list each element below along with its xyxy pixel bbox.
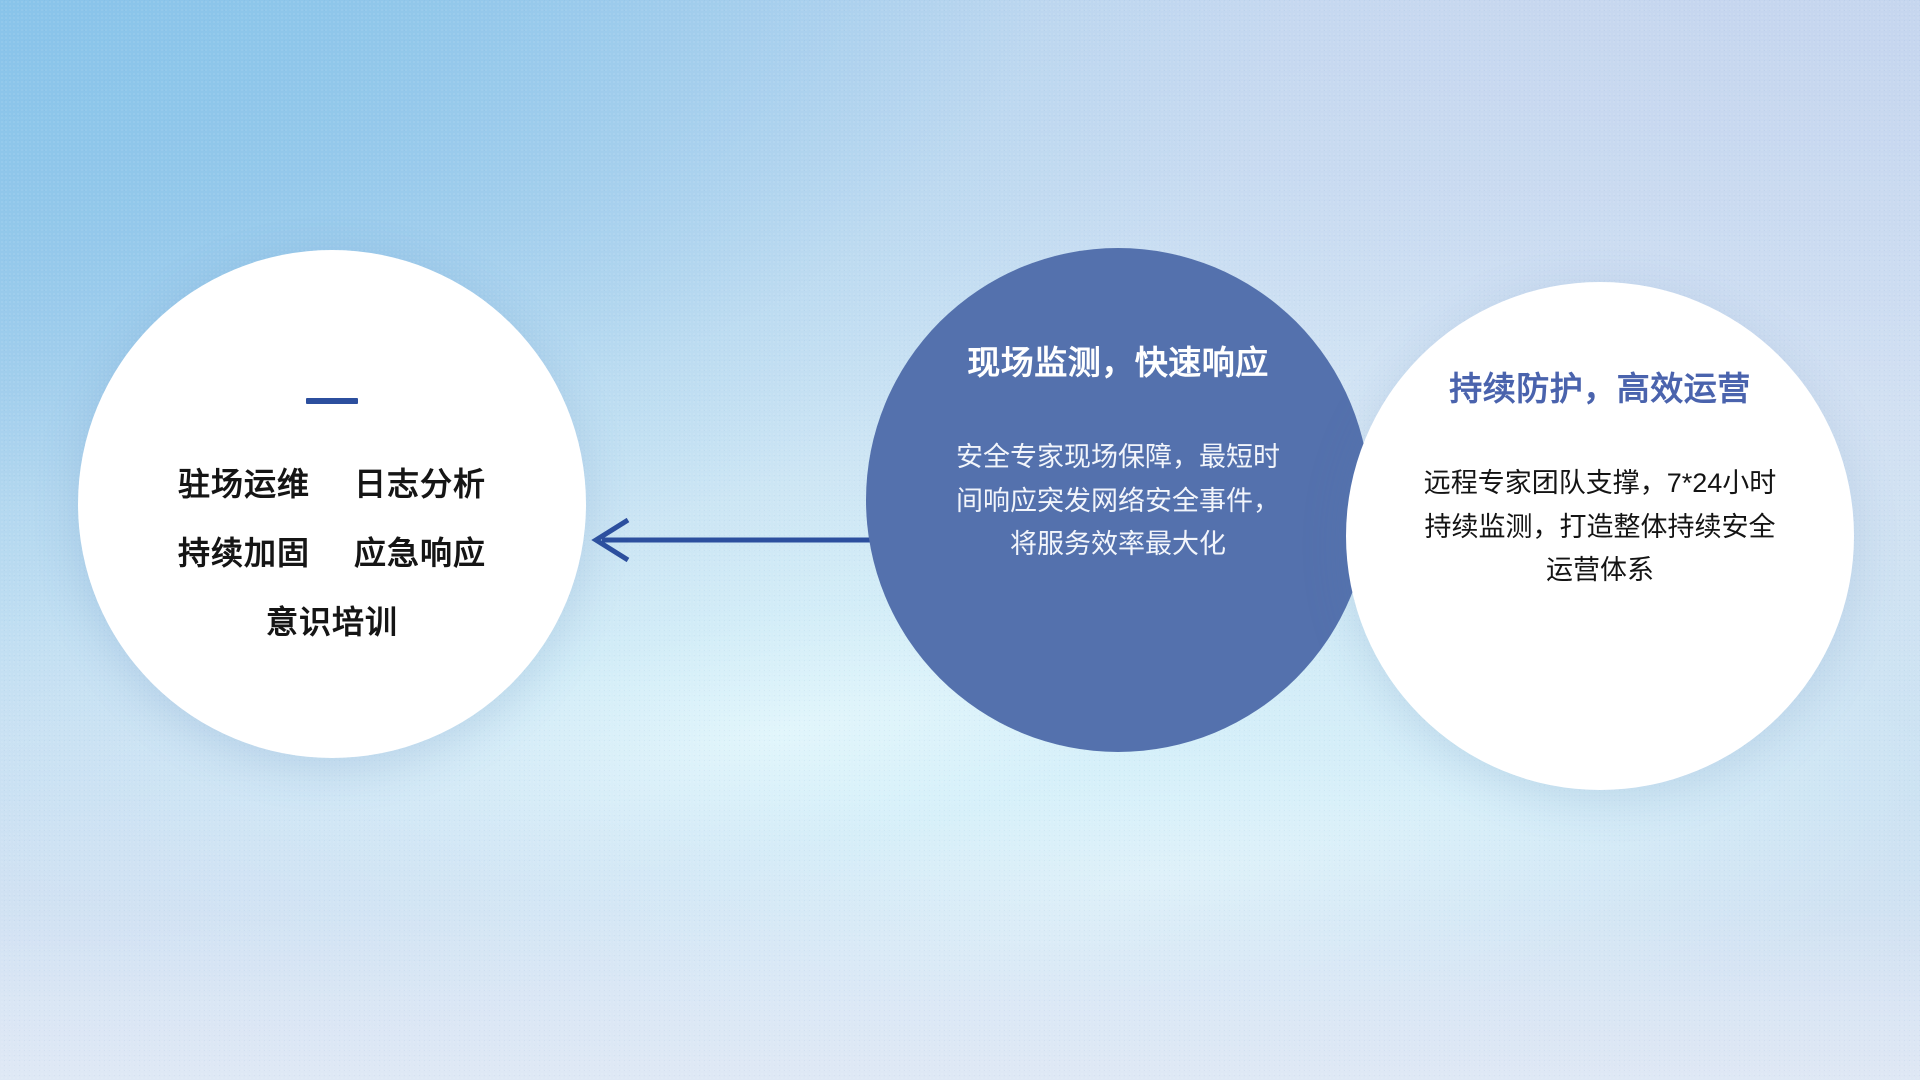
capabilities-circle: 驻场运维 日志分析 持续加固 应急响应 意识培训 xyxy=(78,250,586,758)
capability-item: 驻场运维 xyxy=(178,459,310,505)
continuous-protection-title: 持续防护，高效运营 xyxy=(1449,362,1751,410)
capability-row: 意识培训 xyxy=(266,597,398,643)
capability-item: 日志分析 xyxy=(354,459,486,505)
horizontal-dash-icon xyxy=(306,398,358,404)
onsite-monitoring-circle: 现场监测，快速响应 安全专家现场保障，最短时间响应突发网络安全事件，将服务效率最… xyxy=(866,248,1370,752)
capability-item: 持续加固 xyxy=(178,528,310,574)
capability-row: 驻场运维 日志分析 xyxy=(178,459,486,505)
capability-row: 持续加固 应急响应 xyxy=(178,528,486,574)
onsite-monitoring-body: 安全专家现场保障，最短时间响应突发网络安全事件，将服务效率最大化 xyxy=(953,436,1283,567)
capability-list: 驻场运维 日志分析 持续加固 应急响应 意识培训 xyxy=(78,459,586,643)
slide-canvas: 驻场运维 日志分析 持续加固 应急响应 意识培训 现场监测，快速响应 安全专家现… xyxy=(0,0,1920,1080)
continuous-protection-body: 远程专家团队支撑，7*24小时持续监测，打造整体持续安全运营体系 xyxy=(1414,462,1786,593)
capability-item: 意识培训 xyxy=(266,597,398,643)
onsite-monitoring-title: 现场监测，快速响应 xyxy=(967,336,1269,384)
capability-item: 应急响应 xyxy=(354,528,486,574)
continuous-protection-circle: 持续防护，高效运营 远程专家团队支撑，7*24小时持续监测，打造整体持续安全运营… xyxy=(1346,282,1854,790)
